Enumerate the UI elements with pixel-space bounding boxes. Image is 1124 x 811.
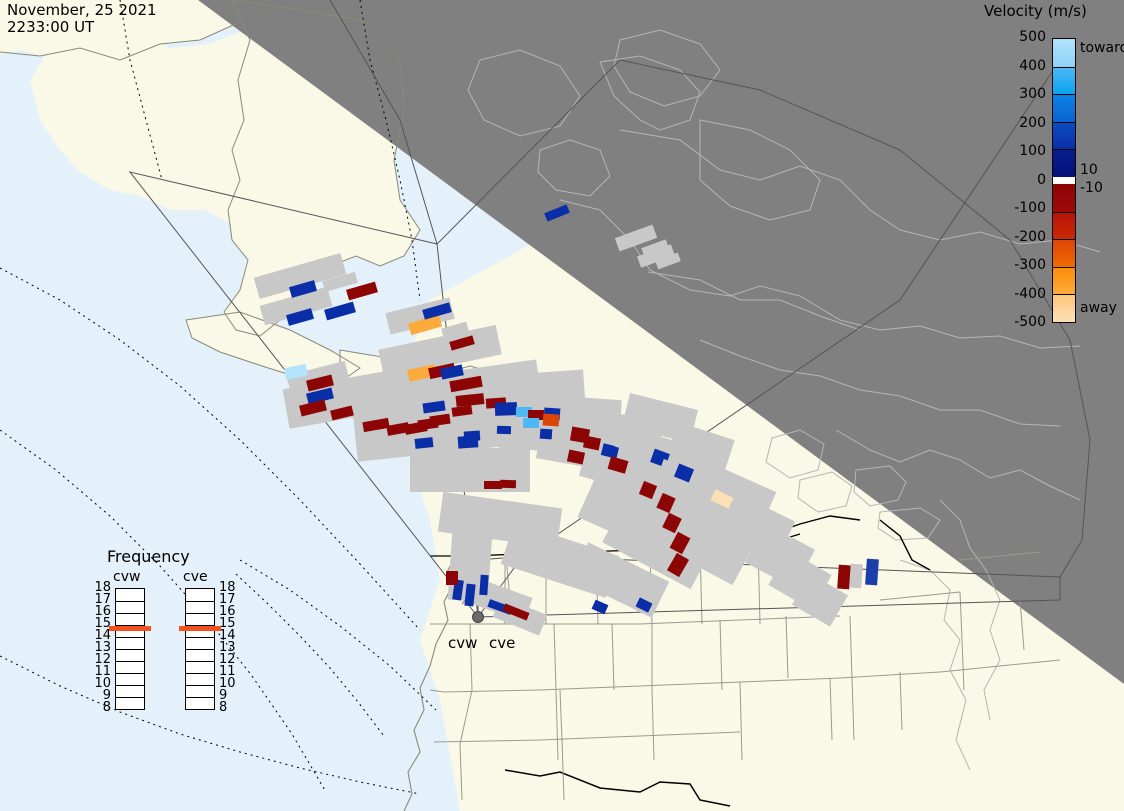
site-label-cve: cve xyxy=(489,634,515,652)
colorbar-toward-label: toward xyxy=(1080,40,1124,56)
frequency-row xyxy=(116,613,144,625)
frequency-row xyxy=(186,601,214,613)
frequency-bar-cvw[interactable] xyxy=(115,588,145,710)
frequency-row xyxy=(186,637,214,649)
frequency-row xyxy=(116,685,144,697)
colorbar-divider xyxy=(1053,267,1075,268)
colorbar-title: Velocity (m/s) xyxy=(984,2,1087,20)
colorbar-tick-500: 500 xyxy=(980,29,1046,45)
frequency-row xyxy=(116,637,144,649)
colorbar-divider xyxy=(1053,294,1075,295)
velocity-cell[interactable] xyxy=(500,480,516,489)
velocity-cell[interactable] xyxy=(484,481,502,489)
radar-site-marker[interactable] xyxy=(473,612,484,623)
velocity-cell[interactable] xyxy=(543,413,560,426)
frequency-row xyxy=(186,685,214,697)
velocity-cell[interactable] xyxy=(495,402,517,416)
colorbar-band--10..-100 xyxy=(1053,184,1075,212)
frequency-bar-cve[interactable] xyxy=(185,588,215,710)
colorbar-negative-threshold: -10 xyxy=(1080,180,1103,196)
frequency-row xyxy=(186,613,214,625)
frequency-title: Frequency xyxy=(107,547,190,566)
colorbar-tick--300: -300 xyxy=(980,257,1046,273)
colorbar-tick-0: 0 xyxy=(980,172,1046,188)
velocity-cell[interactable] xyxy=(446,571,458,585)
colorbar-band--400..-500 xyxy=(1053,294,1075,322)
velocity-cell[interactable] xyxy=(865,559,879,586)
frequency-row xyxy=(186,697,214,709)
colorbar-divider xyxy=(1053,149,1075,150)
velocity-cell[interactable] xyxy=(479,575,488,596)
time-text: 2233:00 UT xyxy=(7,18,94,36)
velocity-cell[interactable] xyxy=(849,564,863,589)
colorbar-divider xyxy=(1053,67,1075,68)
site-label-cvw: cvw xyxy=(448,634,477,652)
frequency-legend[interactable]: Frequency cvw cve 18171615141312111098 1… xyxy=(85,545,245,780)
velocity-cell[interactable] xyxy=(415,437,434,449)
colorbar-divider xyxy=(1053,122,1075,123)
velocity-colorbar[interactable]: Velocity (m/s) 5004003002001000-100-200-… xyxy=(980,0,1124,340)
colorbar-tick-100: 100 xyxy=(980,143,1046,159)
colorbar-tick--200: -200 xyxy=(980,229,1046,245)
colorbar-tick--100: -100 xyxy=(980,200,1046,216)
velocity-cell[interactable] xyxy=(523,418,539,428)
colorbar-tick-300: 300 xyxy=(980,86,1046,102)
frequency-row xyxy=(116,649,144,661)
colorbar-band-200..300 xyxy=(1053,94,1075,122)
frequency-tick-8: 8 xyxy=(87,700,111,715)
colorbar-tick--500: -500 xyxy=(980,314,1046,330)
frequency-row xyxy=(186,673,214,685)
velocity-cell[interactable] xyxy=(540,429,553,440)
frequency-marker-cvw xyxy=(109,626,151,631)
datetime-label: November, 25 20212233:00 UT xyxy=(7,2,157,36)
colorbar-tick-400: 400 xyxy=(980,58,1046,74)
colorbar-divider xyxy=(1053,94,1075,95)
superdarn-fan-plot: November, 25 20212233:00 UT Velocity (m/… xyxy=(0,0,1124,811)
colorbar-divider xyxy=(1053,212,1075,213)
colorbar-band--200..-300 xyxy=(1053,239,1075,267)
velocity-cell[interactable] xyxy=(464,430,481,441)
frequency-row xyxy=(116,697,144,709)
colorbar-tick--400: -400 xyxy=(980,286,1046,302)
frequency-row xyxy=(116,673,144,685)
frequency-tick-8: 8 xyxy=(219,700,243,715)
frequency-marker-cve xyxy=(179,626,221,631)
frequency-radar-name-cve: cve xyxy=(183,569,208,585)
colorbar-band--100..-200 xyxy=(1053,212,1075,240)
frequency-radar-name-cvw: cvw xyxy=(113,569,140,585)
colorbar-band--300..-400 xyxy=(1053,267,1075,295)
date-text: November, 25 2021 xyxy=(7,1,157,19)
velocity-cell[interactable] xyxy=(497,426,511,434)
colorbar-gradient[interactable] xyxy=(1052,38,1076,323)
velocity-cell[interactable] xyxy=(837,565,851,590)
colorbar-away-label: away xyxy=(1080,300,1117,316)
colorbar-band-gap xyxy=(1053,177,1075,184)
colorbar-tick-200: 200 xyxy=(980,115,1046,131)
colorbar-positive-threshold: 10 xyxy=(1080,162,1098,178)
frequency-row xyxy=(186,661,214,673)
colorbar-band-300..400 xyxy=(1053,67,1075,95)
colorbar-band-100..200 xyxy=(1053,122,1075,150)
colorbar-band-10..100 xyxy=(1053,149,1075,177)
frequency-row xyxy=(116,601,144,613)
colorbar-band-400..500 xyxy=(1053,39,1075,67)
frequency-row xyxy=(186,649,214,661)
colorbar-divider xyxy=(1053,239,1075,240)
frequency-row xyxy=(116,661,144,673)
